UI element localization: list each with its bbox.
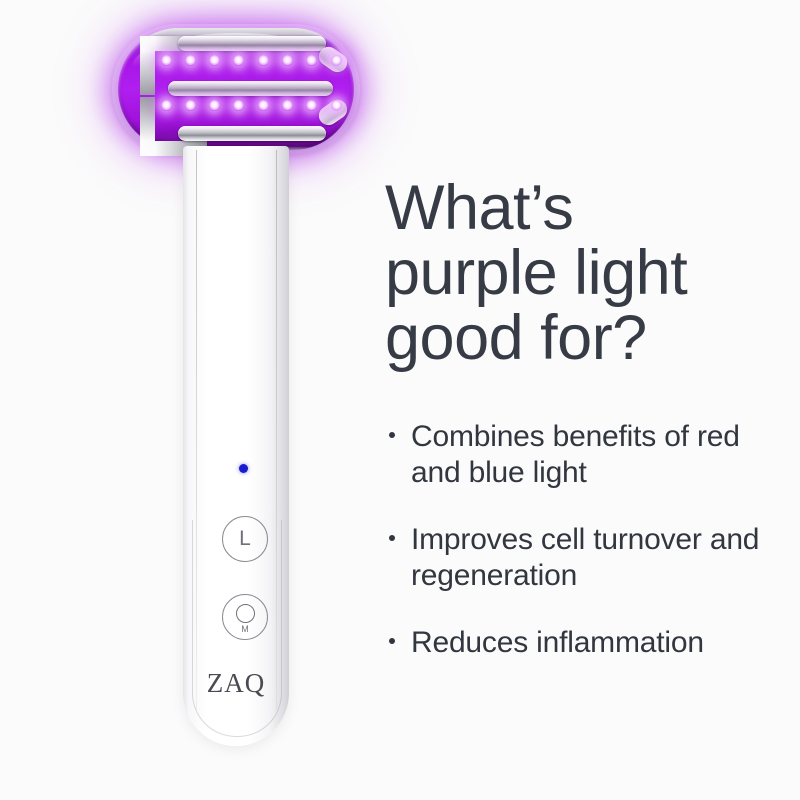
benefits-list: Combines benefits of red and blue light … <box>385 419 785 662</box>
led-dot <box>258 55 269 66</box>
text-panel: What’s purple light good for? Combines b… <box>385 176 785 662</box>
brand-logo: ZAQ <box>183 668 289 699</box>
led-dot <box>233 55 244 66</box>
power-ring-icon <box>236 604 255 623</box>
led-dot <box>161 55 172 66</box>
metal-bar-bottom <box>178 126 326 141</box>
led-dot <box>209 100 220 111</box>
list-item-label: Reduces inflammation <box>411 626 704 659</box>
list-item: Reduces inflammation <box>385 625 785 662</box>
bullet-dot-icon <box>389 535 395 541</box>
list-item-label: Combines benefits of red and blue light <box>411 420 740 490</box>
led-dot <box>282 55 293 66</box>
led-dot <box>209 55 220 66</box>
led-dot <box>161 100 172 111</box>
list-item: Combines benefits of red and blue light <box>385 419 785 492</box>
light-mode-button[interactable]: L <box>222 516 268 562</box>
list-item-label: Improves cell turnover and regeneration <box>411 523 759 593</box>
led-dot <box>185 55 196 66</box>
list-item: Improves cell turnover and regeneration <box>385 522 785 595</box>
light-mode-button-label: L <box>239 527 251 551</box>
led-dot <box>185 100 196 111</box>
led-dot <box>331 55 342 66</box>
zaq-device-illustration: L M ZAQ <box>0 0 380 800</box>
led-dot <box>306 55 317 66</box>
status-indicator-led <box>239 464 248 473</box>
product-graphic-canvas: L M ZAQ What’s purple light good for? Co… <box>0 0 800 800</box>
mode-power-button-label: M <box>241 625 249 634</box>
mode-power-button[interactable]: M <box>222 594 268 640</box>
led-dot <box>282 100 293 111</box>
led-dot <box>331 100 342 111</box>
page-title: What’s purple light good for? <box>385 176 785 371</box>
metal-bar-top <box>178 36 326 51</box>
led-dot <box>233 100 244 111</box>
bullet-dot-icon <box>389 432 395 438</box>
led-dot <box>258 100 269 111</box>
led-dot <box>306 100 317 111</box>
metal-bar-middle <box>168 81 333 96</box>
bullet-dot-icon <box>389 638 395 644</box>
